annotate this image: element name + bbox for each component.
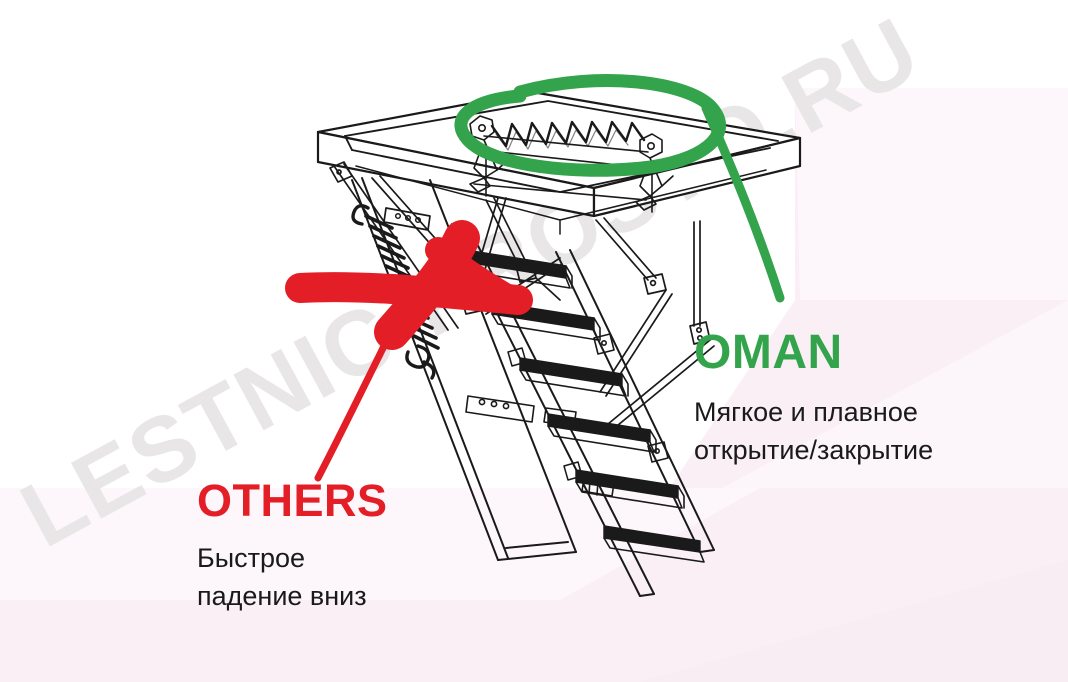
others-label-block: OTHERS Быстрое падение вниз (197, 478, 388, 616)
others-title: OTHERS (197, 478, 388, 523)
oman-subtitle-line-1: Мягкое и плавное (694, 393, 933, 431)
others-subtitle-line-1: Быстрое (197, 539, 388, 577)
infographic-canvas: LESTNIC-PROSTO.RU (0, 0, 1068, 682)
oman-label-block: OMAN Мягкое и плавное открытие/закрытие (694, 329, 933, 470)
others-subtitle-line-2: падение вниз (197, 577, 388, 615)
oman-subtitle-line-2: открытие/закрытие (694, 431, 933, 469)
oman-title: OMAN (694, 329, 933, 377)
labels-layer: OMAN Мягкое и плавное открытие/закрытие … (0, 0, 1068, 682)
